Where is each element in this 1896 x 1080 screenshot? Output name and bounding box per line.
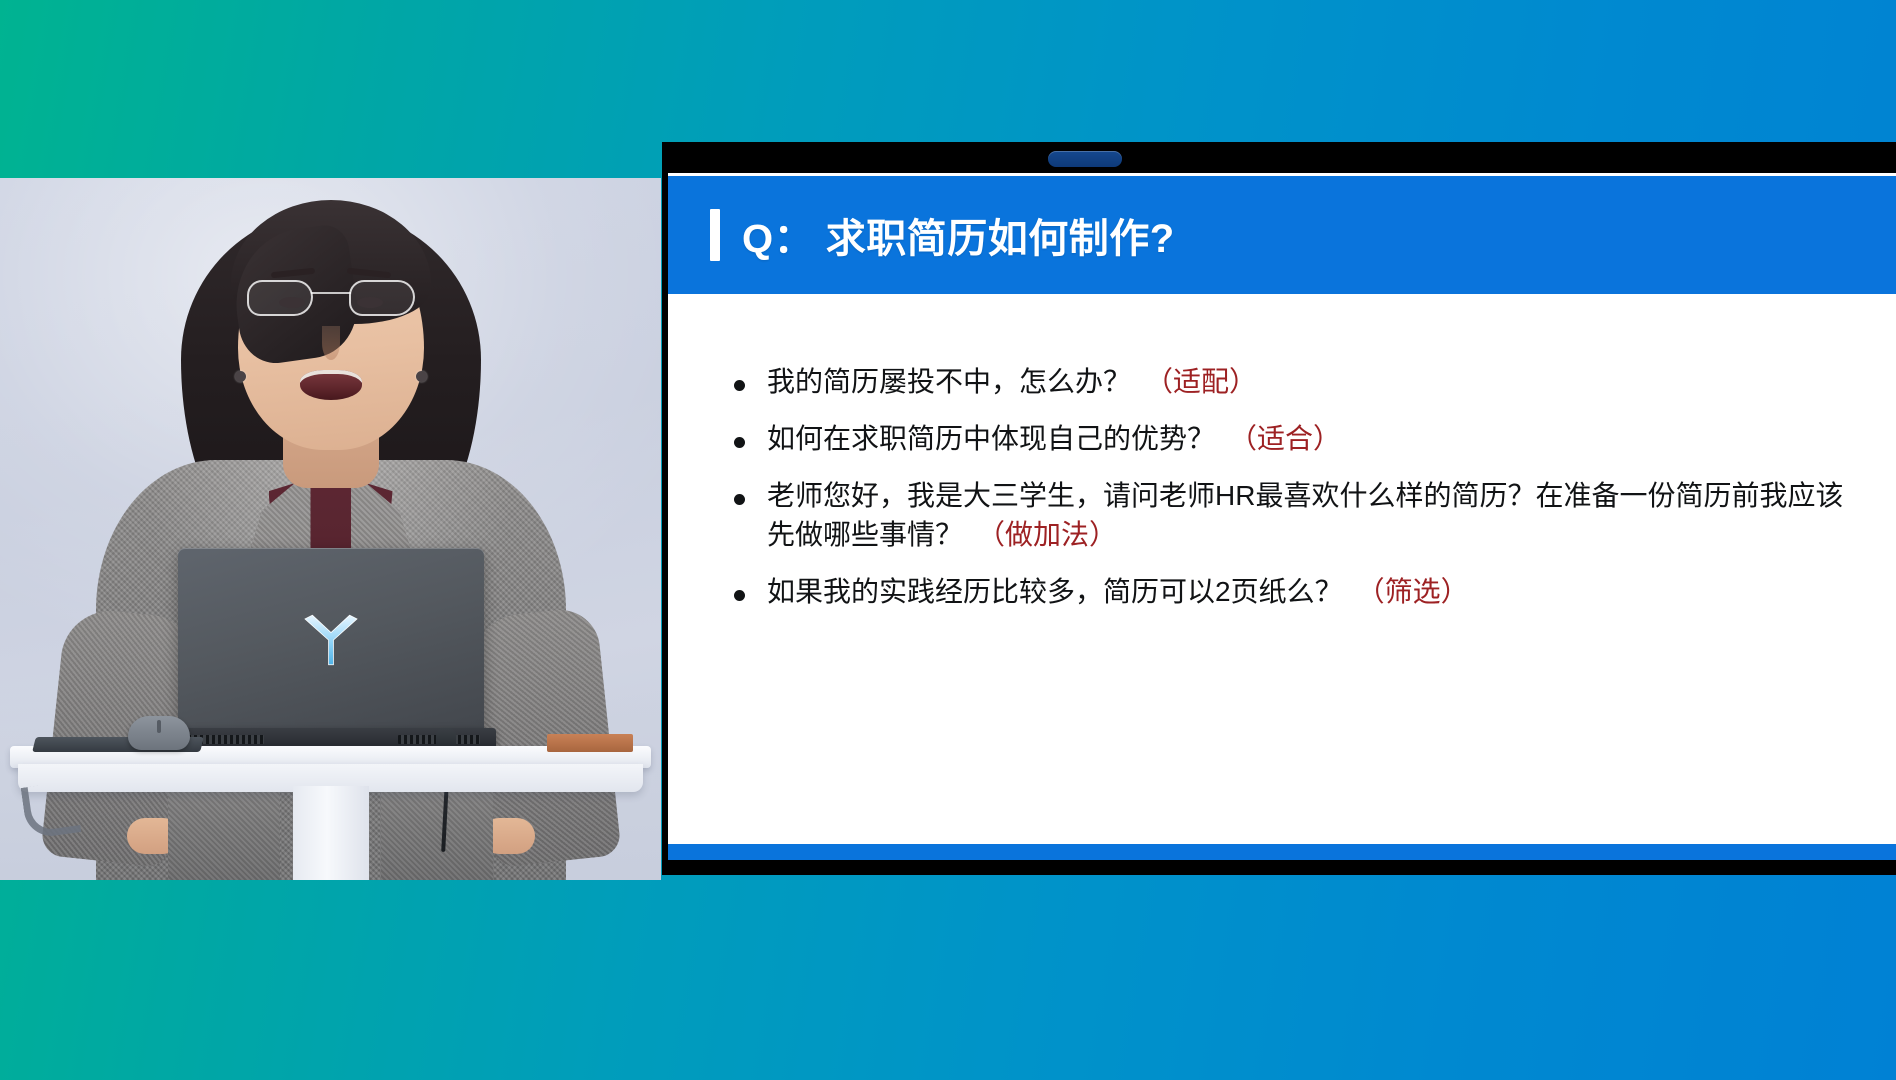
podium-column bbox=[293, 786, 369, 880]
bullet-tag: （筛选） bbox=[1357, 576, 1469, 607]
bullet-content: 老师您好，我是大三学生，请问老师HR最喜欢什么样的简历？在准备一份简历前我应该先… bbox=[767, 476, 1856, 556]
glasses-bridge bbox=[311, 292, 351, 294]
slide-body: 我的简历屡投不中，怎么办？（适配） 如何在求职简历中体现自己的优势？（适合） 老… bbox=[668, 294, 1896, 844]
list-item: 如果我的实践经历比较多，简历可以2页纸么？（筛选） bbox=[708, 572, 1856, 612]
legion-y-logo-icon bbox=[300, 608, 362, 670]
laptop-lid bbox=[178, 548, 484, 732]
bullet-question-text: 老师您好，我是大三学生，请问老师HR最喜欢什么样的简历？在准备一份简历前我应该先… bbox=[767, 480, 1843, 551]
presenter-video-panel[interactable] bbox=[0, 178, 661, 880]
presenter-mouth bbox=[300, 370, 362, 400]
bullet-tag: （适合） bbox=[1229, 423, 1341, 454]
list-item: 如何在求职简历中体现自己的优势？（适合） bbox=[708, 419, 1856, 459]
slide-header-bar: Q： 求职简历如何制作? bbox=[668, 176, 1896, 294]
bullet-dot-icon bbox=[734, 494, 745, 505]
bullet-tag: （做加法） bbox=[977, 519, 1117, 550]
earring-right bbox=[416, 371, 427, 382]
title-accent-bar bbox=[710, 209, 720, 261]
slide-screen-frame: Q： 求职简历如何制作? 我的简历屡投不中，怎么办？（适配） 如何在求职简历中体… bbox=[662, 142, 1896, 875]
bullet-question-text: 如何在求职简历中体现自己的优势？ bbox=[767, 423, 1215, 454]
screen-stage: Q： 求职简历如何制作? 我的简历屡投不中，怎么办？（适配） 如何在求职简历中体… bbox=[0, 0, 1896, 1080]
slide-title: Q： 求职简历如何制作? bbox=[742, 206, 1175, 264]
presenter-leg-right bbox=[381, 784, 493, 880]
bullet-content: 如何在求职简历中体现自己的优势？（适合） bbox=[767, 419, 1856, 459]
slide-footer-band bbox=[668, 844, 1896, 860]
notebook-object bbox=[547, 734, 633, 752]
presenter-leg-left bbox=[168, 784, 280, 880]
bullet-content: 我的简历屡投不中，怎么办？（适配） bbox=[767, 362, 1856, 402]
glasses-lens-right bbox=[349, 280, 415, 316]
glasses-icon bbox=[245, 280, 417, 320]
glasses-lens-left bbox=[247, 280, 313, 316]
list-item: 我的简历屡投不中，怎么办？（适配） bbox=[708, 362, 1856, 402]
list-item: 老师您好，我是大三学生，请问老师HR最喜欢什么样的简历？在准备一份简历前我应该先… bbox=[708, 476, 1856, 556]
bullet-question-text: 如果我的实践经历比较多，简历可以2页纸么？ bbox=[767, 576, 1343, 607]
computer-mouse bbox=[128, 716, 190, 750]
bullet-dot-icon bbox=[734, 437, 745, 448]
bullet-tag: （适配） bbox=[1145, 366, 1257, 397]
earring-left bbox=[235, 371, 246, 382]
presenter-nose bbox=[322, 326, 340, 360]
bullet-dot-icon bbox=[734, 380, 745, 391]
bullet-dot-icon bbox=[734, 590, 745, 601]
bullet-content: 如果我的实践经历比较多，简历可以2页纸么？（筛选） bbox=[767, 572, 1856, 612]
webcam-notch-indicator bbox=[1048, 151, 1122, 167]
bullet-question-text: 我的简历屡投不中，怎么办？ bbox=[767, 366, 1131, 397]
slide-page: Q： 求职简历如何制作? 我的简历屡投不中，怎么办？（适配） 如何在求职简历中体… bbox=[668, 173, 1896, 844]
